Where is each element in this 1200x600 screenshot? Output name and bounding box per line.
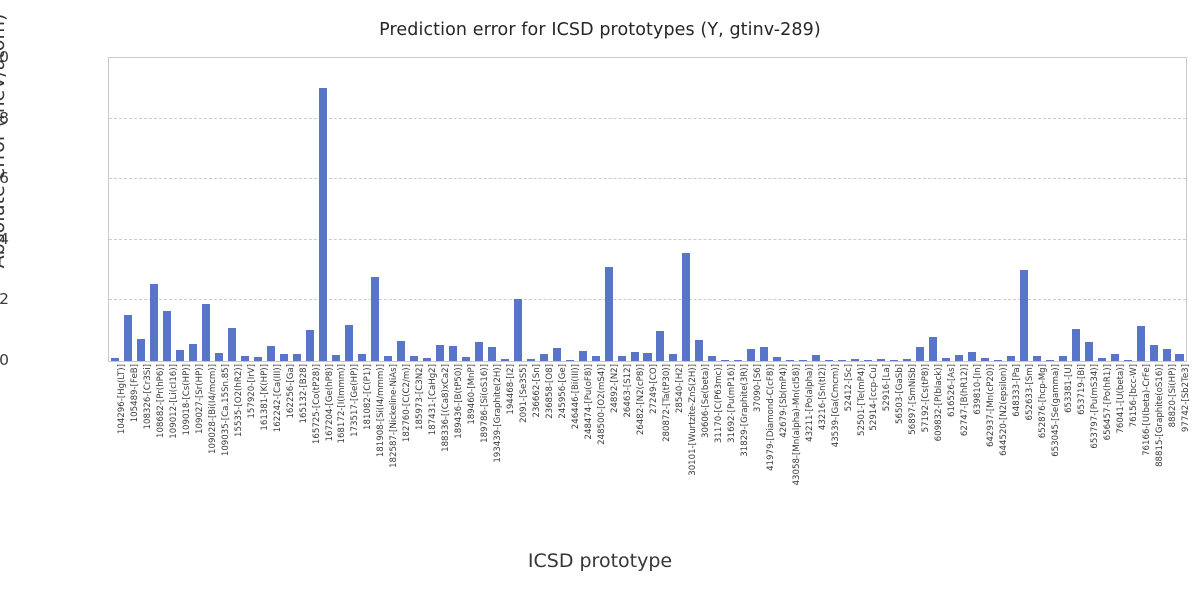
bar (631, 352, 639, 361)
x-tick-label: 193439-[Graphite(2H)] (494, 364, 503, 463)
bar (358, 354, 366, 361)
x-tick-label: 2091-[Se3S5] (520, 364, 529, 423)
bar (371, 277, 379, 361)
bar (332, 355, 340, 361)
x-tick-label: 182760-[C(C2/m)] (403, 364, 412, 442)
bar (955, 355, 963, 361)
x-tick-label: 76156-[bcc-W] (1130, 364, 1139, 427)
x-tick-label: 31829-[Graphite(3R)] (741, 364, 750, 457)
x-tick-label: 31170-[C(P63mc)] (715, 364, 724, 443)
bar (540, 354, 548, 361)
bar (812, 355, 820, 361)
x-tick-label: 189460-[MnP] (468, 364, 477, 425)
bar (1098, 358, 1106, 361)
x-tick-label: 245956-[Ge] (559, 364, 568, 419)
x-tick-label: 42679-[Sb(mP4)] (780, 364, 789, 438)
x-tick-label: 97742-[Sb2Te3] (1182, 364, 1191, 432)
x-tick-label: 108326-[Cr3Si] (144, 364, 153, 429)
bar (851, 359, 859, 361)
bar (293, 354, 301, 361)
bar (838, 360, 846, 361)
x-tick-label: 31692-[Pu(mP16)] (728, 364, 737, 443)
bar (903, 359, 911, 361)
bar (890, 360, 898, 361)
bar (579, 351, 587, 361)
x-tick-label: 644520-[N2(epsilon)] (1000, 364, 1009, 456)
bar (799, 360, 807, 361)
x-tick-label: 165725-[Co(tP28)] (313, 364, 322, 444)
bar (1163, 349, 1171, 361)
x-tick-label: 157920-[IrV] (248, 364, 257, 419)
y-tick-label: 4 (0, 230, 9, 248)
bar (1175, 354, 1183, 361)
bar (1046, 360, 1054, 361)
x-tick-label: 52914-[ccp-Cu] (870, 364, 879, 431)
x-tick-label: 248500-[O2(mS4)] (598, 364, 607, 445)
bar (514, 299, 522, 361)
x-tick-label: 43058-[Mn(alpha)-Mn(cI58)] (793, 364, 802, 485)
x-tick-label: 648333-[Pa] (1013, 364, 1022, 417)
bar (1111, 354, 1119, 361)
x-tick-label: 162256-[Ga] (287, 364, 296, 419)
bar (695, 340, 703, 361)
bar (1150, 345, 1158, 361)
bar (254, 357, 262, 361)
x-tick-label: 43216-[Sn(tI2)] (819, 364, 828, 430)
x-tick-label: 109012-[Li(cI16)] (170, 364, 179, 439)
x-tick-label: 30101-[Wurtzite-ZnS(2H)] (689, 364, 698, 476)
x-tick-label: 28540-[H2] (676, 364, 685, 413)
x-tick-label: 52412-[Sc] (845, 364, 854, 411)
x-tick-label: 43211-[Po(alpha)] (806, 364, 815, 442)
bar (1033, 356, 1041, 361)
bar (449, 346, 457, 361)
x-tick-label: 642937-[Mn(cP20)] (987, 364, 996, 447)
x-tick-label: 109018-[Cs(HP)] (183, 364, 192, 435)
x-tick-label: 62747-[B(hR12)] (961, 364, 970, 436)
bar (1007, 356, 1015, 361)
plot-area (108, 57, 1187, 362)
bar (202, 304, 210, 361)
x-tick-label: 104296-[Hg(LT)] (118, 364, 127, 434)
bar (436, 345, 444, 361)
x-tick-label: 181082-[C(P1)] (364, 364, 373, 430)
bar (643, 353, 651, 361)
x-tick-label: 653719-[Bi] (1078, 364, 1087, 415)
bar (345, 325, 353, 361)
x-tick-label: 15535-[O2(hR2)] (235, 364, 244, 437)
x-tick-label: 189786-[Si(oS16)] (481, 364, 490, 443)
bar (280, 354, 288, 361)
x-tick-label: 173517-[Ge(HP)] (351, 364, 360, 437)
bar (124, 315, 132, 361)
y-tick-label: 8 (0, 109, 9, 127)
y-tick-label: 10 (0, 48, 9, 66)
x-tick-label: 652876-[hcp-Mg] (1039, 364, 1048, 438)
x-tick-label: 57192-[Cs(tP8)] (922, 364, 931, 432)
bar (929, 337, 937, 361)
x-tick-label: 653797-[Pu(mS34)] (1091, 364, 1100, 449)
x-tick-label: 24892-[N2] (611, 364, 620, 413)
x-tick-label: 41979-[Diamond-C(cF8)] (767, 364, 776, 471)
bar (734, 360, 742, 361)
x-axis-label: ICSD prototype (0, 550, 1200, 572)
x-tick-label: 108682-[Pr(hP6)] (157, 364, 166, 438)
x-tick-label: 248474-[Pu(oF8)] (585, 364, 594, 439)
x-tick-label: 653045-[Se(gamma)] (1052, 364, 1061, 457)
x-tick-label: 609832-[P(black)] (935, 364, 944, 441)
x-tick-label: 616526-[As] (948, 364, 957, 417)
x-tick-label: 56897-[SmNiSb] (909, 364, 918, 435)
bar (1085, 342, 1093, 361)
bar (656, 331, 664, 361)
x-tick-label: 246446-[Bi(III)] (572, 364, 581, 429)
x-tick-label: 653381-[U] (1065, 364, 1074, 413)
bar (981, 358, 989, 361)
bar (1072, 329, 1080, 361)
bar (1124, 360, 1132, 362)
bar (618, 356, 626, 361)
x-tick-label: 168172-[I(Immm)] (338, 364, 347, 444)
bar (150, 284, 158, 361)
x-tick-label: 236662-[Sn] (533, 364, 542, 418)
bar (708, 356, 716, 361)
x-tick-label: 105489-[FeB] (131, 364, 140, 422)
x-tick-label: 187431-[CaHg2] (429, 364, 438, 435)
bar (501, 359, 509, 361)
bar (215, 353, 223, 361)
x-tick-label: 109028-[Bi(I4/mcm)] (209, 364, 218, 454)
x-tick-label: 27249-[CO] (650, 364, 659, 414)
bar (1137, 326, 1145, 361)
x-tick-label: 161381-[K(HP)] (261, 364, 270, 431)
x-tick-label: 109035-[Ca.15Sn.85] (222, 364, 231, 456)
x-tick-label: 76166-[U(beta)-CrFe] (1143, 364, 1152, 456)
bar (682, 253, 690, 361)
bar (163, 311, 171, 361)
bar (592, 356, 600, 361)
bar (605, 267, 613, 361)
x-tick-label: 280872-[Ta(tP30)] (663, 364, 672, 442)
x-tick-label: 52916-[La] (883, 364, 892, 411)
chart-title: Prediction error for ICSD prototypes (Y,… (0, 20, 1200, 40)
bar (397, 341, 405, 361)
bar (825, 360, 833, 361)
x-tick-label: 88815-[Graphite(oS16)] (1156, 364, 1165, 467)
bar (137, 339, 145, 361)
bar (488, 347, 496, 361)
bar (760, 347, 768, 361)
bar (566, 360, 574, 361)
bar (1059, 356, 1067, 361)
x-tick-label: 52501-[Te(mP4)] (858, 364, 867, 436)
x-tick-label: 88820-[Si(HP)] (1169, 364, 1178, 427)
bar (553, 348, 561, 361)
bar (189, 344, 197, 361)
bar (968, 352, 976, 361)
x-axis-ticks: 104296-[Hg(LT)]105489-[FeB]108326-[Cr3Si… (108, 364, 1187, 534)
x-tick-label: 26482-[N2(cP8)] (637, 364, 646, 435)
x-tick-label: 181908-[Si(I4/mmm)] (377, 364, 386, 457)
bar (669, 354, 677, 361)
bar (410, 356, 418, 361)
x-tick-label: 30606-[Se(beta)] (702, 364, 711, 438)
x-tick-label: 76041-[U(beta)] (1117, 364, 1126, 434)
bar (994, 360, 1002, 361)
bar (877, 359, 885, 361)
bar (384, 356, 392, 361)
x-tick-label: 188336-[(Ca8)xCa2] (442, 364, 451, 452)
x-tick-label: 109027-[Sr(HP)] (196, 364, 205, 434)
bar (267, 346, 275, 361)
bar-series (109, 58, 1186, 361)
x-tick-label: 189436-[B(tP50)] (455, 364, 464, 439)
bar (942, 358, 950, 361)
bar (916, 347, 924, 361)
bar (475, 342, 483, 361)
x-tick-label: 167204-[Ge(hP8)] (326, 364, 335, 441)
x-tick-label: 236858-[O8] (546, 364, 555, 419)
bar (864, 360, 872, 361)
y-tick-label: 6 (0, 169, 9, 187)
bar (527, 359, 535, 361)
x-tick-label: 194468-[I2] (507, 364, 516, 415)
bar (423, 358, 431, 361)
bar (786, 360, 794, 361)
x-tick-label: 56503-[GaSb] (896, 364, 905, 424)
x-tick-label: 37090-[S6] (754, 364, 763, 412)
bar (319, 88, 327, 361)
x-tick-label: 652633-[Sm] (1026, 364, 1035, 420)
bar (462, 357, 470, 361)
x-tick-label: 162242-[Ca(III)] (274, 364, 283, 432)
bar (111, 358, 119, 361)
bar (773, 357, 781, 361)
x-tick-label: 182587-[Nickeline-NiAs] (390, 364, 399, 468)
y-tick-label: 0 (0, 351, 9, 369)
bar (228, 328, 236, 361)
bar (306, 330, 314, 361)
x-tick-label: 639810-[In] (974, 364, 983, 415)
bar (747, 349, 755, 361)
bar (721, 360, 729, 361)
bar (176, 350, 184, 362)
x-tick-label: 26463-[S12] (624, 364, 633, 418)
x-tick-label: 43539-[Ga(Cmcm)] (832, 364, 841, 447)
x-tick-label: 165132-[B28] (300, 364, 309, 423)
x-tick-label: 185973-[C3N2] (416, 364, 425, 430)
bar (241, 356, 249, 361)
bar (1020, 270, 1028, 362)
chart-figure: Prediction error for ICSD prototypes (Y,… (0, 0, 1200, 600)
y-tick-label: 2 (0, 290, 9, 308)
x-tick-label: 656457-[Po(hR1)] (1104, 364, 1113, 440)
